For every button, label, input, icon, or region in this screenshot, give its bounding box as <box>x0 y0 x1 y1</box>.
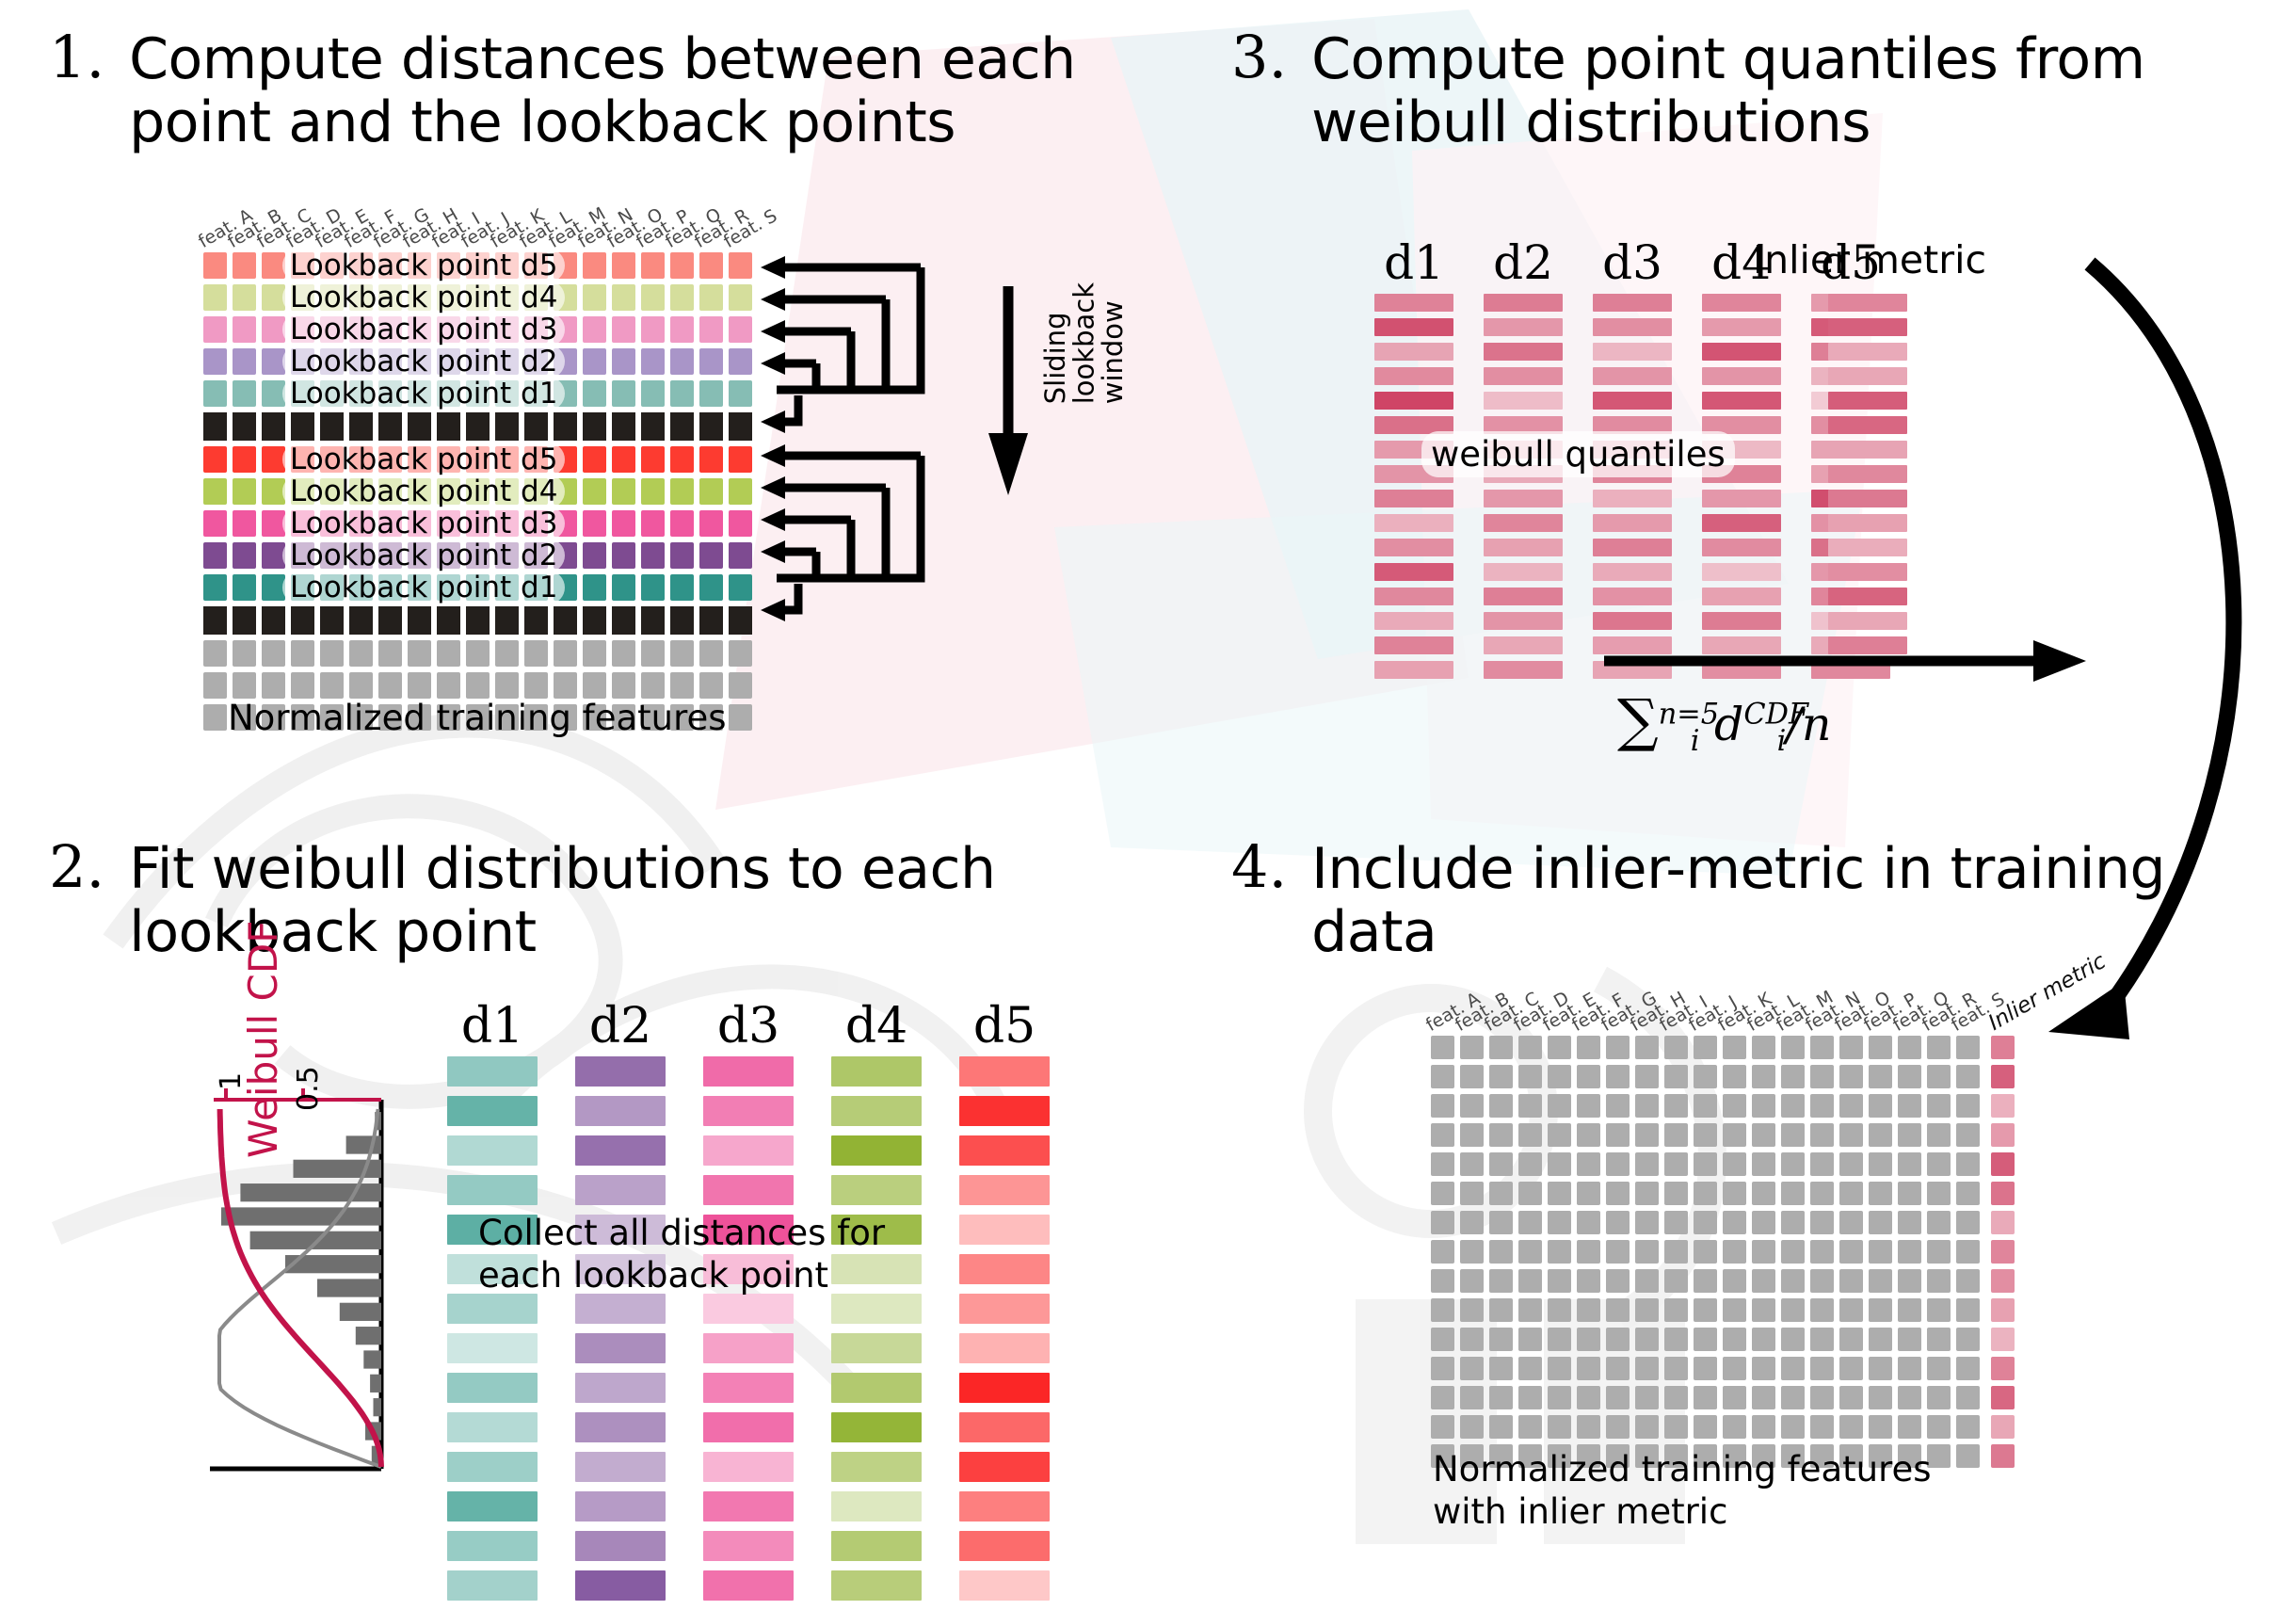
strip-bar <box>1374 612 1453 630</box>
panel3-inlier-column <box>1828 294 1907 661</box>
panel4-cell <box>1460 1328 1484 1351</box>
panel1-cell <box>670 284 694 311</box>
panel4-cell <box>1781 1182 1805 1205</box>
panel4-cell <box>1839 1152 1863 1176</box>
panel1-cell <box>729 446 752 473</box>
panel4-cell <box>1869 1415 1892 1439</box>
panel1-row <box>203 672 752 699</box>
strip-bar <box>447 1412 538 1442</box>
strip-bar <box>447 1491 538 1521</box>
panel4-cell <box>1810 1269 1834 1293</box>
strip-bar <box>447 1294 538 1324</box>
panel1-cell <box>699 284 723 311</box>
panel1-cell <box>262 640 285 667</box>
panel4-cell <box>1606 1328 1630 1351</box>
panel4-cell <box>1635 1269 1659 1293</box>
panel4-cell <box>1752 1182 1775 1205</box>
panel1-cell <box>641 380 665 407</box>
panel4-cell <box>1635 1386 1659 1409</box>
strip-bar <box>1374 343 1453 361</box>
panel4-cell <box>1752 1152 1775 1176</box>
panel1-cell <box>699 380 723 407</box>
panel1-row: Lookback point d3 <box>203 316 752 343</box>
panel4-cell <box>1927 1298 1951 1322</box>
panel4-cell <box>1927 1123 1951 1147</box>
formula-d: d <box>1714 698 1743 751</box>
panel4-cell <box>1635 1182 1659 1205</box>
strip-bar <box>447 1096 538 1126</box>
panel4-row <box>1431 1182 2015 1205</box>
panel1-cell <box>466 672 490 699</box>
panel1-cell <box>408 412 431 441</box>
panel4-cell <box>1664 1036 1688 1059</box>
panel1-cell <box>320 412 344 441</box>
panel1-cell <box>699 672 723 699</box>
panel1-cell <box>729 284 752 311</box>
weibull-hist-bar <box>370 1375 381 1393</box>
panel4-cell <box>1810 1123 1834 1147</box>
panel1-row-label: Lookback point d4 <box>282 281 565 314</box>
panel1-cell <box>670 478 694 505</box>
strip-bar <box>1484 563 1563 581</box>
panel1-cell <box>641 574 665 601</box>
strip-bar <box>1702 367 1781 385</box>
panel4-cell <box>1606 1065 1630 1088</box>
panel4-cell <box>1664 1182 1688 1205</box>
panel4-cell <box>1723 1065 1746 1088</box>
strip-column: d2 <box>575 1056 666 1610</box>
strip-bar <box>831 1096 922 1126</box>
strip-bar <box>1828 539 1907 556</box>
panel1-cell <box>437 412 460 441</box>
panel4-cell <box>1723 1298 1746 1322</box>
panel1-cell <box>699 574 723 601</box>
panel1-cell <box>670 446 694 473</box>
strip-bar <box>831 1570 922 1601</box>
panel1-cell <box>612 284 635 311</box>
panel4-cell <box>1752 1298 1775 1322</box>
panel4-cell <box>1489 1269 1513 1293</box>
panel4-cell <box>1635 1065 1659 1088</box>
panel4-cell <box>1752 1386 1775 1409</box>
panel4-cell <box>1606 1036 1630 1059</box>
panel4-cell <box>1956 1240 1980 1264</box>
strip-bar <box>959 1531 1050 1561</box>
panel4-cell <box>1898 1036 1921 1059</box>
panel4-inlier-cell <box>1991 1123 2015 1147</box>
weibull-hist-bar <box>317 1279 381 1296</box>
panel4-cell <box>1518 1240 1542 1264</box>
strip-bar <box>1374 539 1453 556</box>
panel4-cell <box>1898 1152 1921 1176</box>
panel1-cell <box>612 252 635 279</box>
panel3-quantile-columns: d1d2d3d4d5 <box>1374 294 1890 685</box>
panel4-cell <box>1810 1036 1834 1059</box>
panel1-cell <box>729 542 752 569</box>
panel4-cell <box>1460 1269 1484 1293</box>
strip-bar <box>959 1215 1050 1245</box>
strip-bar <box>831 1452 922 1482</box>
panel1-cell <box>583 252 606 279</box>
panel4-cell <box>1606 1123 1630 1147</box>
panel4-cell <box>1956 1415 1980 1439</box>
panel1-cell <box>670 542 694 569</box>
strip-bar <box>703 1531 794 1561</box>
panel4-cell <box>1956 1036 1980 1059</box>
panel4-cell <box>1723 1036 1746 1059</box>
panel1-cell <box>233 542 256 569</box>
strip-bar <box>959 1096 1050 1126</box>
panel1-cell <box>670 574 694 601</box>
panel4-cell <box>1752 1211 1775 1234</box>
strip-column: d4 <box>1702 294 1781 685</box>
panel4-cell <box>1489 1152 1513 1176</box>
panel1-cell <box>262 412 285 441</box>
panel4-cell <box>1664 1240 1688 1264</box>
panel1-cell <box>408 672 431 699</box>
panel1-cell <box>641 510 665 537</box>
panel1-cell <box>612 478 635 505</box>
panel4-cell <box>1723 1269 1746 1293</box>
panel1-cell <box>233 672 256 699</box>
panel4-cell <box>1781 1357 1805 1380</box>
panel4-cell <box>1723 1415 1746 1439</box>
strip-bar <box>1828 441 1907 459</box>
panel4-cell <box>1635 1298 1659 1322</box>
panel1-cell <box>233 510 256 537</box>
panel4-cell <box>1606 1269 1630 1293</box>
panel4-cell <box>1869 1123 1892 1147</box>
strip-column-header: d2 <box>1484 235 1563 290</box>
panel4-cell <box>1460 1123 1484 1147</box>
formula-sub: i <box>1691 725 1700 758</box>
panel4-cell <box>1460 1036 1484 1059</box>
panel4-cell <box>1927 1152 1951 1176</box>
panel4-cell <box>1606 1386 1630 1409</box>
panel4-cell <box>1577 1328 1600 1351</box>
panel1-cell <box>699 606 723 635</box>
panel4-cell <box>1752 1357 1775 1380</box>
panel1-row: Lookback point d2 <box>203 542 752 569</box>
weibull-hist-bar <box>221 1207 381 1225</box>
panel4-cell <box>1518 1269 1542 1293</box>
panel4-cell <box>1577 1298 1600 1322</box>
panel1-cell <box>524 606 548 635</box>
panel4-row <box>1431 1036 2015 1059</box>
panel4-cell <box>1431 1123 1454 1147</box>
panel4-cell <box>1489 1036 1513 1059</box>
panel4-cell <box>1577 1211 1600 1234</box>
strip-bar <box>575 1412 666 1442</box>
panel4-cell <box>1577 1094 1600 1118</box>
panel4-cell <box>1548 1036 1571 1059</box>
panel4-cell <box>1694 1123 1717 1147</box>
panel4-cell <box>1664 1269 1688 1293</box>
panel4-cell <box>1781 1152 1805 1176</box>
panel4-cell <box>1431 1269 1454 1293</box>
strip-bar <box>1484 343 1563 361</box>
panel4-inlier-cell <box>1991 1094 2015 1118</box>
panel4-cell <box>1839 1328 1863 1351</box>
panel4-cell <box>1810 1094 1834 1118</box>
panel4-cell <box>1839 1386 1863 1409</box>
panel4-cell <box>1839 1269 1863 1293</box>
panel1-cell <box>699 542 723 569</box>
panel4-cell <box>1752 1269 1775 1293</box>
panel4-cell <box>1781 1240 1805 1264</box>
strip-bar <box>575 1294 666 1324</box>
panel4-cell <box>1606 1094 1630 1118</box>
panel4-cell <box>1869 1269 1892 1293</box>
strip-bar <box>1828 294 1907 312</box>
weibull-hist-bar <box>356 1327 381 1344</box>
panel1-cell <box>583 478 606 505</box>
panel4-cell <box>1664 1298 1688 1322</box>
panel1-cell <box>641 412 665 441</box>
panel1-cell <box>670 640 694 667</box>
panel4-cell <box>1839 1065 1863 1088</box>
strip-column-header: d5 <box>959 998 1050 1055</box>
weibull-hist-bar <box>346 1135 381 1153</box>
panel1-cell <box>729 252 752 279</box>
panel4-cell <box>1577 1036 1600 1059</box>
panel4-cell <box>1431 1152 1454 1176</box>
panel4-cell <box>1810 1357 1834 1380</box>
panel4-inlier-cell <box>1991 1444 2015 1468</box>
panel4-cell <box>1606 1298 1630 1322</box>
panel4-cell <box>1898 1240 1921 1264</box>
weibull-tick-05: 0.5 <box>292 1066 325 1111</box>
panel4-row <box>1431 1240 2015 1264</box>
strip-bar <box>959 1294 1050 1324</box>
panel1-matrix: feat. Afeat. Bfeat. Cfeat. Dfeat. Efeat.… <box>203 252 752 736</box>
panel4-cell <box>1839 1211 1863 1234</box>
panel4-cell <box>1898 1269 1921 1293</box>
panel4-cell <box>1956 1269 1980 1293</box>
strip-bar <box>831 1373 922 1403</box>
panel1-cell <box>729 478 752 505</box>
panel1-row: Lookback point d3 <box>203 510 752 537</box>
panel1-cell <box>466 606 490 635</box>
panel1-cell <box>203 348 227 375</box>
panel4-cell <box>1518 1094 1542 1118</box>
strip-bar <box>1374 514 1453 532</box>
panel4-cell <box>1898 1094 1921 1118</box>
panel1-cell <box>349 606 373 635</box>
panel1-cell <box>612 380 635 407</box>
panel1-cell <box>408 606 431 635</box>
panel4-cell <box>1839 1094 1863 1118</box>
strip-bar <box>1374 490 1453 507</box>
panel4-cell <box>1956 1444 1980 1468</box>
strip-bar <box>1374 318 1453 336</box>
strip-bar <box>447 1333 538 1363</box>
panel4-cell <box>1927 1094 1951 1118</box>
panel4-cell <box>1927 1182 1951 1205</box>
formula-sup: n=5 <box>1659 699 1719 732</box>
panel1-cell <box>641 542 665 569</box>
panel4-cell <box>1869 1094 1892 1118</box>
panel4-cell <box>1518 1152 1542 1176</box>
panel1-cell <box>670 606 694 635</box>
panel1-cell <box>233 412 256 441</box>
panel1-cell <box>291 412 314 441</box>
panel4-cell <box>1489 1065 1513 1088</box>
panel4-cell <box>1898 1065 1921 1088</box>
panel4-cell <box>1694 1386 1717 1409</box>
panel1-cell <box>233 640 256 667</box>
strip-bar <box>1593 514 1672 532</box>
panel1-cell <box>612 606 635 635</box>
panel4-cell <box>1460 1182 1484 1205</box>
panel1-row-label: Lookback point d2 <box>282 539 565 572</box>
strip-bar <box>1828 514 1907 532</box>
panel4-cell <box>1460 1152 1484 1176</box>
panel4-caption: Normalized training features with inlier… <box>1433 1448 1932 1533</box>
strip-bar <box>1828 392 1907 410</box>
panel1-cell <box>670 672 694 699</box>
panel4-inlier-cell <box>1991 1152 2015 1176</box>
strip-bar <box>1593 563 1672 581</box>
panel4-cell <box>1927 1328 1951 1351</box>
panel4-cell <box>1664 1152 1688 1176</box>
panel4-cell <box>1694 1328 1717 1351</box>
panel4-cell <box>1489 1386 1513 1409</box>
panel4-cell <box>1810 1298 1834 1322</box>
step-1-heading: 1. Compute distances between each point … <box>49 28 1103 154</box>
panel4-cell <box>1752 1036 1775 1059</box>
panel4-cell <box>1839 1123 1863 1147</box>
panel4-cell <box>1752 1328 1775 1351</box>
panel2-distance-columns: d1d2d3d4d5 <box>447 1056 1050 1610</box>
panel1-cell <box>583 348 606 375</box>
panel4-inlier-cell <box>1991 1065 2015 1088</box>
panel1-cell <box>729 640 752 667</box>
panel4-cell <box>1898 1123 1921 1147</box>
panel4-cell <box>1518 1415 1542 1439</box>
panel4-cell <box>1548 1386 1571 1409</box>
step-3-title: Compute point quantiles from weibull dis… <box>1311 28 2144 154</box>
panel1-cell <box>233 316 256 343</box>
panel4-cell <box>1635 1240 1659 1264</box>
panel1-row <box>203 640 752 667</box>
panel1-cell <box>612 510 635 537</box>
panel4-inlier-cell <box>1991 1182 2015 1205</box>
panel4-cell <box>1898 1386 1921 1409</box>
panel4-cell <box>1723 1152 1746 1176</box>
panel1-cell <box>699 510 723 537</box>
strip-bar <box>447 1135 538 1166</box>
panel4-cell <box>1956 1386 1980 1409</box>
strip-bar <box>575 1175 666 1205</box>
panel1-cell <box>612 412 635 441</box>
strip-bar <box>1484 539 1563 556</box>
strip-column <box>1828 294 1907 661</box>
strip-bar <box>703 1373 794 1403</box>
panel4-cell <box>1898 1182 1921 1205</box>
strip-bar <box>703 1452 794 1482</box>
panel1-cell <box>437 640 460 667</box>
panel4-cell <box>1869 1298 1892 1322</box>
panel1-cell <box>641 348 665 375</box>
panel4-cell <box>1548 1298 1571 1322</box>
panel1-bracket-d1-arrows <box>753 256 979 655</box>
panel4-cell <box>1577 1182 1600 1205</box>
panel1-cell <box>233 606 256 635</box>
panel1-cell <box>641 316 665 343</box>
panel4-cell <box>1664 1065 1688 1088</box>
panel4-cell <box>1577 1240 1600 1264</box>
panel4-row <box>1431 1357 2015 1380</box>
strip-bar <box>1593 539 1672 556</box>
weibull-hist-bar <box>374 1398 382 1416</box>
panel4-cell <box>1489 1182 1513 1205</box>
strip-bar <box>447 1373 538 1403</box>
panel4-cell <box>1489 1298 1513 1322</box>
strip-bar <box>1828 318 1907 336</box>
panel1-cell <box>641 284 665 311</box>
panel1-cell <box>437 606 460 635</box>
panel4-cell <box>1752 1415 1775 1439</box>
panel4-cell <box>1869 1065 1892 1088</box>
strip-bar <box>1702 588 1781 605</box>
panel1-cell <box>670 252 694 279</box>
strip-bar <box>1828 490 1907 507</box>
panel1-cell <box>378 640 402 667</box>
strip-bar <box>1484 588 1563 605</box>
panel4-cell <box>1606 1357 1630 1380</box>
panel4-cell <box>1839 1415 1863 1439</box>
panel1-cell <box>203 606 227 635</box>
strip-bar <box>1828 343 1907 361</box>
panel1-row-label: Lookback point d3 <box>282 313 565 346</box>
panel1-cell <box>203 704 227 731</box>
strip-bar <box>1484 490 1563 507</box>
panel4-cell <box>1460 1298 1484 1322</box>
panel4-cell <box>1460 1211 1484 1234</box>
panel4-cell <box>1431 1298 1454 1322</box>
strip-column-header: d3 <box>1593 235 1672 290</box>
panel4-cell <box>1781 1065 1805 1088</box>
strip-bar <box>447 1570 538 1601</box>
panel1-cell <box>699 412 723 441</box>
panel4-cell <box>1927 1036 1951 1059</box>
panel1-cell <box>641 672 665 699</box>
panel1-cell <box>233 478 256 505</box>
panel4-cell <box>1956 1094 1980 1118</box>
panel1-cell <box>670 348 694 375</box>
panel4-cell <box>1431 1182 1454 1205</box>
sliding-lookback-window: Sliding lookback window <box>981 282 1127 499</box>
panel4-cell <box>1431 1211 1454 1234</box>
panel4-cell <box>1635 1094 1659 1118</box>
panel4-cell <box>1635 1036 1659 1059</box>
panel1-cell <box>233 446 256 473</box>
strip-bar <box>831 1294 922 1324</box>
panel4-cell <box>1577 1386 1600 1409</box>
panel4-cell <box>1548 1211 1571 1234</box>
panel4-cell <box>1606 1240 1630 1264</box>
strip-bar <box>447 1056 538 1087</box>
panel1-cell <box>583 542 606 569</box>
panel4-cell <box>1810 1211 1834 1234</box>
step-4-number: 4. <box>1231 838 1287 896</box>
strip-bar <box>703 1096 794 1126</box>
panel4-cell <box>1869 1386 1892 1409</box>
panel4-cell <box>1518 1123 1542 1147</box>
panel4-cell <box>1577 1065 1600 1088</box>
panel4-cell <box>1431 1357 1454 1380</box>
